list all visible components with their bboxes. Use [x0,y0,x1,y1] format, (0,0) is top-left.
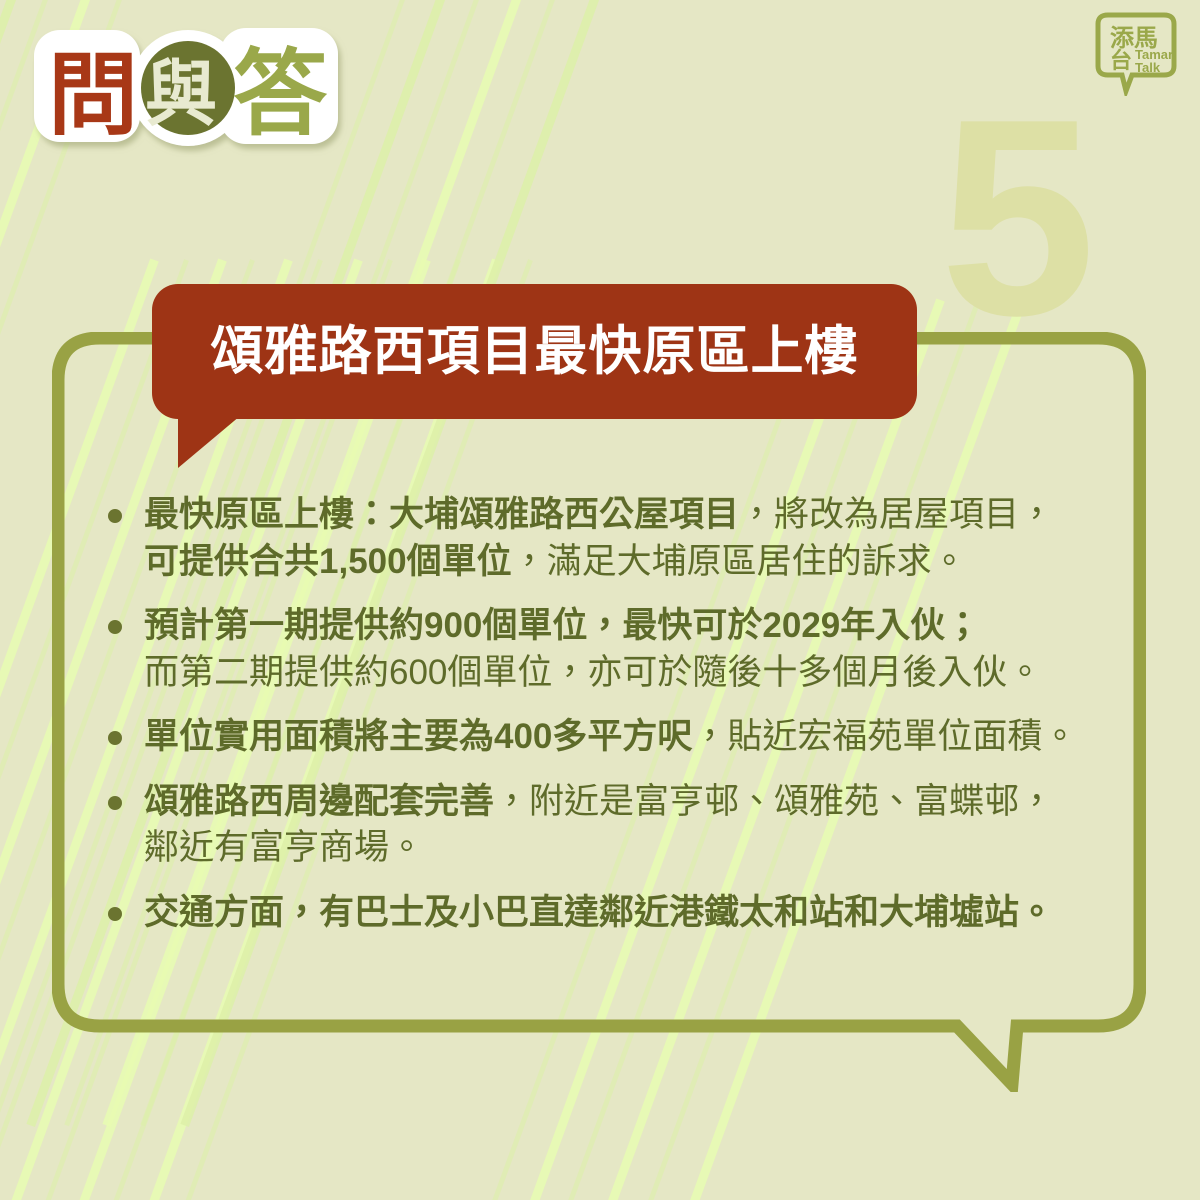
bullet-list: 最快原區上樓：大埔頌雅路西公屋項目，將改為居屋項目，可提供合共1,500個單位，… [108,492,1118,954]
bullet-text: 交通方面，有巴士及小巴直達鄰近港鐵太和站和大埔墟站。 [144,890,1118,937]
bullet-item: 最快原區上樓：大埔頌雅路西公屋項目，將改為居屋項目，可提供合共1,500個單位，… [108,492,1118,585]
bullet-plain-text: ，滿足大埔原區居住的訴求。 [512,542,967,581]
bullet-plain-text: ，貼近宏福苑單位面積。 [692,717,1077,756]
qa-logo: 問 與 答 [28,22,348,157]
bullet-plain-text: 而第二期提供約600個單位，亦可於隨後十多個月後入伙。 [144,653,1042,692]
bullet-text: 單位實用面積將主要為400多平方呎，貼近宏福苑單位面積。 [144,714,1118,761]
bullet-text: 頌雅路西周邊配套完善，附近是富亨邨、頌雅苑、富蝶邨，鄰近有富亨商場。 [144,779,1118,872]
bullet-line: 單位實用面積將主要為400多平方呎，貼近宏福苑單位面積。 [144,714,1118,761]
title-bubble: 頌雅路西項目最快原區上樓 [152,284,917,419]
bullet-text: 預計第一期提供約900個單位，最快可於2029年入伙；而第二期提供約600個單位… [144,603,1118,696]
bullet-line: 預計第一期提供約900個單位，最快可於2029年入伙； [144,603,1118,650]
bullet-item: 預計第一期提供約900個單位，最快可於2029年入伙；而第二期提供約600個單位… [108,603,1118,696]
bullet-dot-icon [108,620,122,634]
bullet-item: 單位實用面積將主要為400多平方呎，貼近宏福苑單位面積。 [108,714,1118,761]
bullet-plain-text: ，附近是富亨邨、頌雅苑、富蝶邨， [494,782,1054,821]
step-number-watermark: 5 [940,78,1090,358]
poster-canvas: 5 問 與 答 添馬 台 Tamar Talk [0,0,1200,1200]
bullet-line: 最快原區上樓：大埔頌雅路西公屋項目，將改為居屋項目， [144,492,1118,539]
bullet-line: 可提供合共1,500個單位，滿足大埔原區居住的訴求。 [144,539,1118,586]
bullet-plain-text: 鄰近有富亨商場。 [144,828,424,867]
bullet-emphasis-text: 頌雅路西周邊配套完善 [144,782,494,821]
bullet-emphasis-text: 預計第一期提供約900個單位，最快可於2029年入伙； [144,606,980,645]
bullet-line: 交通方面，有巴士及小巴直達鄰近港鐵太和站和大埔墟站。 [144,890,1118,937]
tamar-logo-latin2: Talk [1135,60,1161,75]
bullet-line: 鄰近有富亨商場。 [144,825,1118,872]
bullet-emphasis-text: 單位實用面積將主要為400多平方呎 [144,717,692,756]
bullet-dot-icon [108,509,122,523]
qa-logo-char-yu: 與 [145,55,217,135]
bullet-item: 交通方面，有巴士及小巴直達鄰近港鐵太和站和大埔墟站。 [108,890,1118,937]
bullet-line: 頌雅路西周邊配套完善，附近是富亨邨、頌雅苑、富蝶邨， [144,779,1118,826]
bullet-dot-icon [108,796,122,810]
bullet-dot-icon [108,731,122,745]
bullet-emphasis-text: 最快原區上樓：大埔頌雅路西公屋項目 [144,495,739,534]
tamar-logo-line2: 台 [1110,48,1132,73]
bullet-item: 頌雅路西周邊配套完善，附近是富亨邨、頌雅苑、富蝶邨，鄰近有富亨商場。 [108,779,1118,872]
bullet-plain-text: ，將改為居屋項目， [739,495,1054,534]
tamar-talk-logo: 添馬 台 Tamar Talk [1090,10,1182,96]
bullet-line: 而第二期提供約600個單位，亦可於隨後十多個月後入伙。 [144,650,1118,697]
bullet-dot-icon [108,907,122,921]
page-title: 頌雅路西項目最快原區上樓 [211,325,859,378]
bullet-text: 最快原區上樓：大埔頌雅路西公屋項目，將改為居屋項目，可提供合共1,500個單位，… [144,492,1118,585]
bullet-emphasis-text: 可提供合共1,500個單位 [144,542,512,581]
bullet-emphasis-text: 交通方面，有巴士及小巴直達鄰近港鐵太和站和大埔墟站。 [144,893,1054,932]
qa-logo-char-wen: 問 [48,46,138,146]
qa-logo-char-da: 答 [233,41,328,146]
